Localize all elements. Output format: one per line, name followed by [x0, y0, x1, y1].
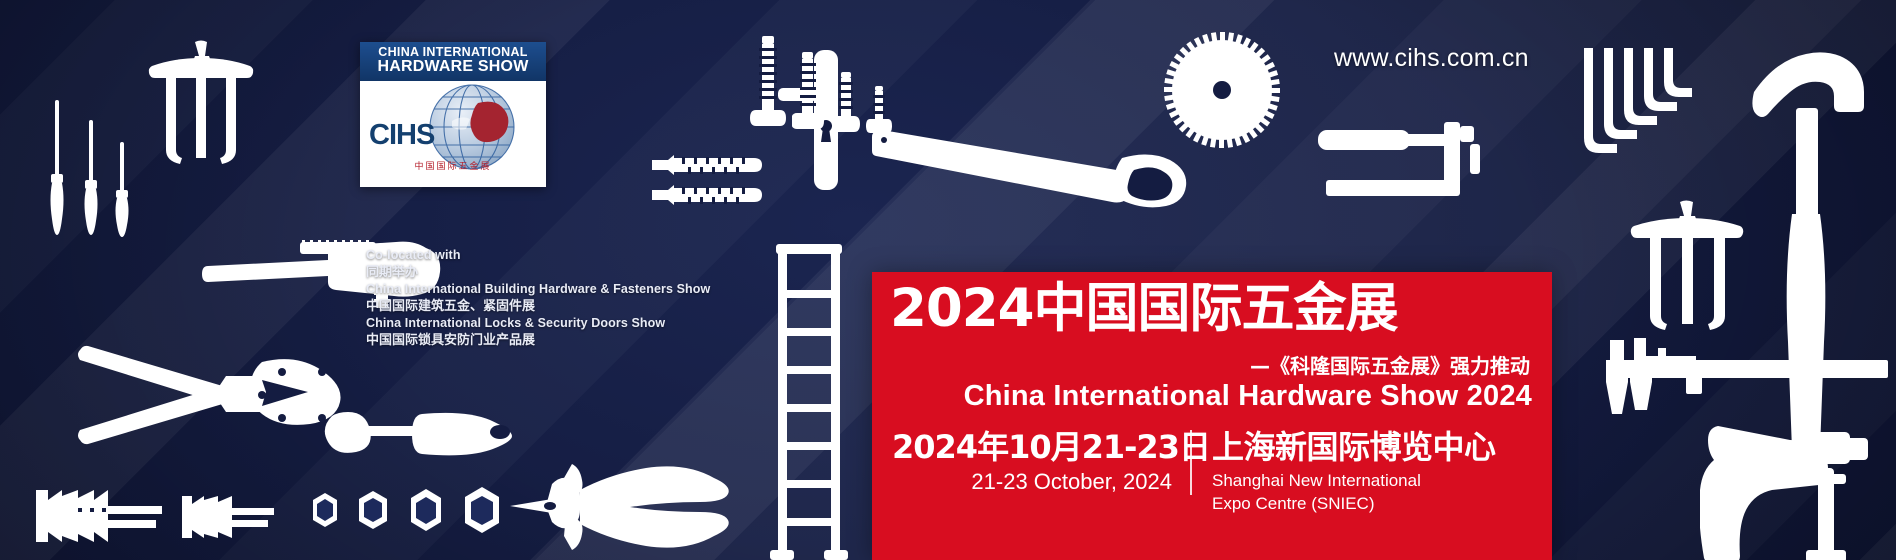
bar-clamp-icon	[1318, 122, 1494, 210]
hand-saw-icon	[872, 128, 1190, 212]
screw-medium-icon	[792, 52, 824, 130]
wall-anchor-icon	[652, 182, 762, 208]
gear-puller-icon	[146, 40, 256, 170]
colocated-show-1-cn: 中国国际建筑五金、紧固件展	[366, 298, 710, 315]
gear-puller-right-icon	[1628, 200, 1746, 340]
event-title-english: China International Hardware Show 2024	[872, 380, 1532, 413]
step-ladder-icon	[766, 244, 852, 560]
power-drill-icon	[1700, 412, 1896, 560]
logo-line-2: HARDWARE SHOW	[360, 59, 546, 76]
event-date-chinese: 2024年10月21-23日	[892, 430, 1172, 465]
colocated-heading-en: Co-located with	[366, 247, 710, 264]
event-subtitle-chinese: —《科隆国际五金展》强力推动	[1250, 350, 1530, 379]
event-date-block: 2024年10月21-23日 21-23 October, 2024	[892, 430, 1192, 495]
screwdriver-small-icon	[110, 142, 134, 242]
masonry-anchor-icon	[180, 492, 274, 542]
logo-mark-chinese: 中国国际五金展	[360, 159, 546, 172]
event-venue-block: 上海新国际博览中心 Shanghai New International Exp…	[1192, 430, 1534, 515]
logo-title-band: CHINA INTERNATIONAL HARDWARE SHOW	[360, 42, 546, 81]
cihs-logo[interactable]: CHINA INTERNATIONAL HARDWARE SHOW	[360, 42, 546, 187]
event-info-panel: 2024中国国际五金展 —《科隆国际五金展》强力推动 China Interna…	[872, 272, 1552, 560]
masonry-anchor-icon	[34, 486, 162, 546]
screwdriver-medium-icon	[78, 120, 104, 240]
wall-anchor-icon	[652, 152, 762, 178]
socket-ring-icon	[308, 492, 342, 528]
colocated-heading-cn: 同期举办	[366, 264, 710, 281]
socket-ring-icon	[354, 490, 392, 530]
allen-key-set-icon	[1582, 40, 1694, 200]
event-details-row: 2024年10月21-23日 21-23 October, 2024 上海新国际…	[892, 430, 1534, 515]
socket-ring-icon	[406, 488, 446, 532]
colocated-show-2-cn: 中国国际锁具安防门业产品展	[366, 332, 710, 349]
screw-tiny-icon	[866, 86, 892, 134]
logo-globe-graphic: CIHS 中国国际五金展	[360, 81, 546, 177]
screw-large-icon	[750, 36, 786, 128]
event-venue-english-line-2: Expo Centre (SNIEC)	[1212, 493, 1534, 515]
socket-ring-icon	[460, 486, 504, 534]
event-venue-english: Shanghai New International Expo Centre (…	[1212, 470, 1534, 515]
colocated-shows-block: Co-located with 同期举办 China International…	[366, 247, 710, 349]
event-venue-chinese: 上海新国际博览中心	[1212, 430, 1534, 465]
colocated-show-2-en: China International Locks & Security Doo…	[366, 315, 710, 332]
logo-mark-text: CIHS	[369, 119, 434, 152]
event-date-english: 21-23 October, 2024	[892, 469, 1172, 495]
cihs-2024-promo-banner: CHINA INTERNATIONAL HARDWARE SHOW	[0, 0, 1896, 560]
screw-small-icon	[832, 72, 860, 132]
website-url[interactable]: www.cihs.com.cn	[1334, 44, 1529, 73]
ratchet-handle-icon	[322, 408, 522, 456]
combination-pliers-icon	[510, 460, 730, 554]
colocated-show-1-en: China International Building Hardware & …	[366, 281, 710, 298]
event-title-chinese: 2024中国国际五金展	[890, 282, 1536, 335]
event-venue-english-line-1: Shanghai New International	[1212, 470, 1534, 492]
screwdriver-slim-icon	[44, 100, 70, 240]
